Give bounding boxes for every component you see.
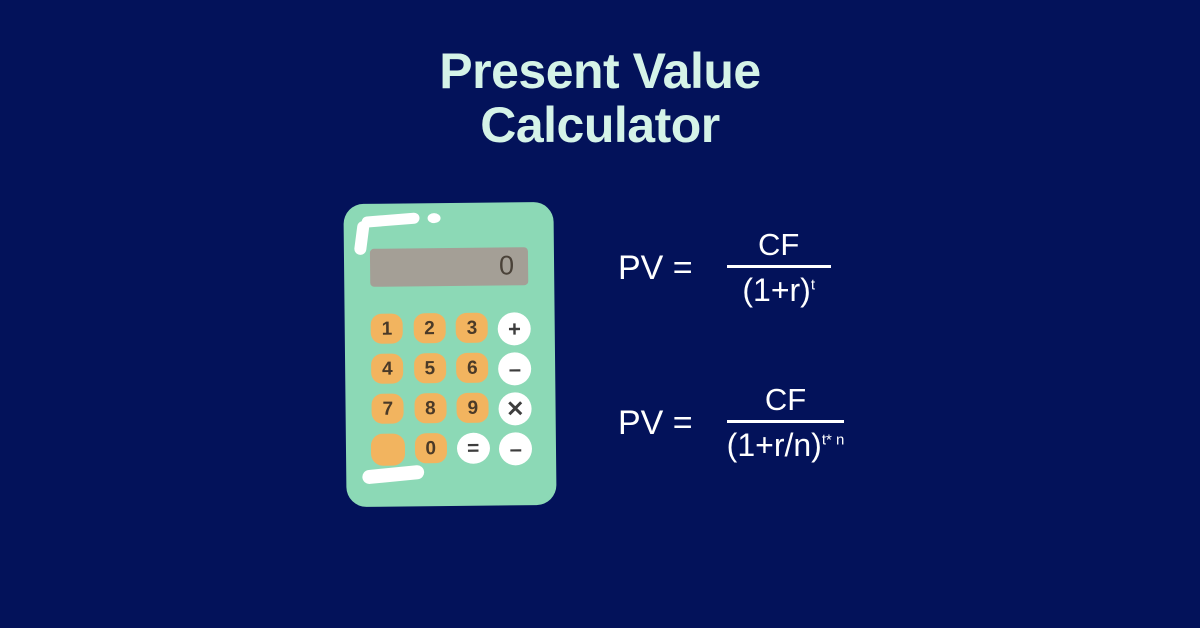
formula-2-numerator: CF	[765, 383, 806, 420]
calculator-key-equals[interactable]: =	[457, 433, 490, 464]
calculator-highlight-top-bar	[361, 212, 420, 228]
calculator-key-divide[interactable]: –	[499, 432, 532, 465]
calculator-key-minus[interactable]: –	[498, 352, 531, 385]
formula-1-fraction: CF (1+r)t	[727, 228, 831, 308]
formula-present-value-multiple-compounding: PV = CF (1+r/n)t* n	[618, 383, 844, 463]
calculator-highlight-bottom	[362, 465, 425, 485]
calculator-key-blank[interactable]	[371, 433, 405, 465]
calculator-highlight-top-tail	[354, 220, 370, 255]
calculator-key-1[interactable]: 1	[371, 313, 403, 343]
page-title-line-1: Present Value	[0, 44, 1200, 98]
calculator-key-7[interactable]: 7	[372, 393, 404, 423]
calculator-key-0[interactable]: 0	[415, 433, 447, 463]
calculator-illustration: 0 123+456–789✕0=–	[343, 202, 556, 507]
formula-1-denominator-exponent: t	[811, 276, 815, 293]
calculator-key-4[interactable]: 4	[371, 353, 403, 383]
calculator-display-value: 0	[499, 252, 514, 279]
calculator-key-multiply[interactable]: ✕	[499, 392, 532, 425]
formula-1-numerator: CF	[758, 228, 799, 265]
formula-2-denominator-exponent: t* n	[822, 431, 845, 448]
calculator-key-3[interactable]: 3	[456, 313, 488, 343]
formula-2-fraction: CF (1+r/n)t* n	[727, 383, 845, 463]
calculator-highlight-dot	[428, 213, 441, 223]
formula-1-denominator: (1+r)t	[742, 268, 815, 308]
calculator-keypad: 123+456–789✕0=–	[368, 312, 536, 467]
calculator-key-9[interactable]: 9	[457, 393, 489, 423]
formula-2-denominator-base: (1+r/n)	[727, 427, 822, 463]
calculator-display: 0	[370, 247, 528, 287]
page-title-line-2: Calculator	[0, 98, 1200, 152]
formula-1-lhs: PV =	[618, 251, 693, 285]
infographic-canvas: Present Value Calculator 0 123+456–789✕0…	[0, 0, 1200, 628]
formula-1-denominator-base: (1+r)	[742, 272, 810, 308]
calculator-key-plus[interactable]: +	[498, 312, 531, 345]
formula-2-lhs: PV =	[618, 406, 693, 440]
formula-2-denominator: (1+r/n)t* n	[727, 423, 845, 463]
calculator-key-8[interactable]: 8	[414, 393, 446, 423]
page-title: Present Value Calculator	[0, 44, 1200, 152]
calculator-key-2[interactable]: 2	[413, 313, 445, 343]
formula-present-value-single-compounding: PV = CF (1+r)t	[618, 228, 831, 308]
calculator-key-5[interactable]: 5	[414, 353, 446, 383]
calculator-key-6[interactable]: 6	[456, 353, 488, 383]
